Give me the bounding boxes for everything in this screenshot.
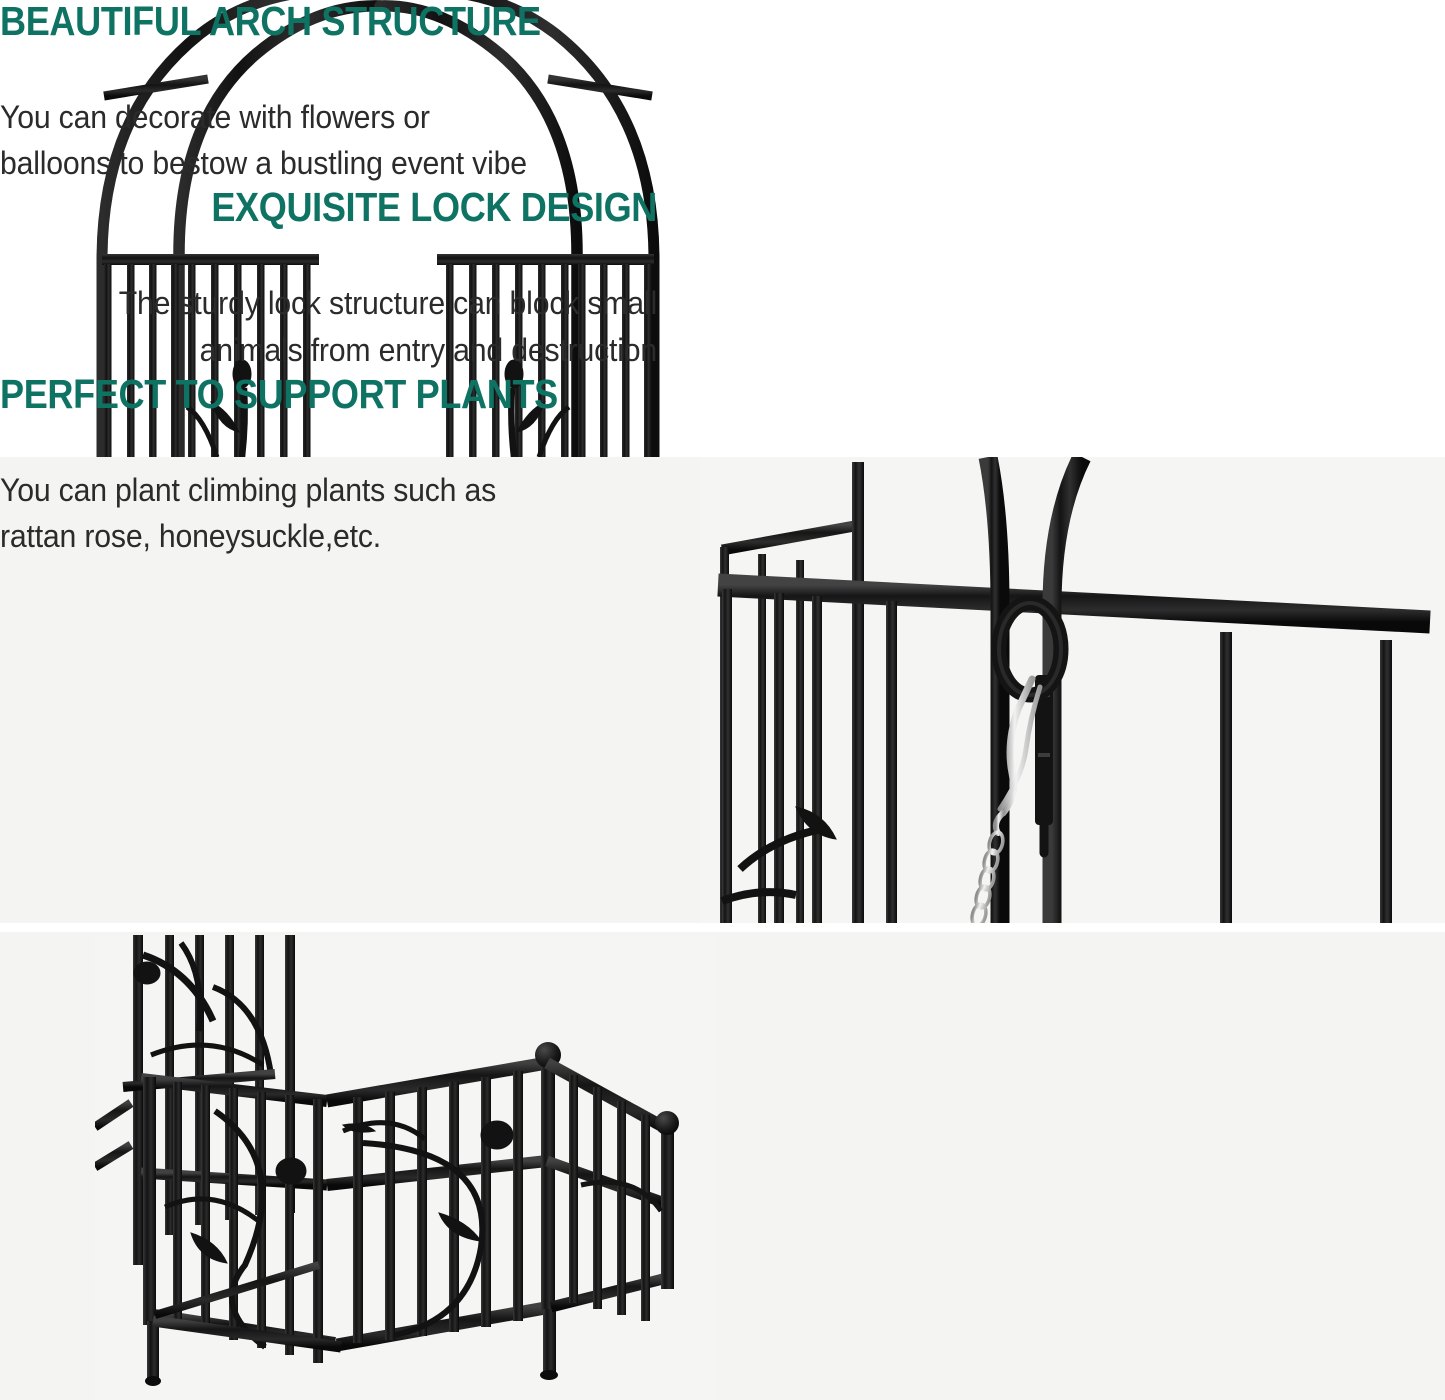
- planter-box-closeup-photo: [95, 935, 715, 1400]
- feature-body-1: You can decorate with flowers or balloon…: [0, 94, 651, 186]
- feature-heading-2: EXQUISITE LOCK DESIGN: [79, 186, 657, 229]
- gate-lock-closeup-photo: [700, 457, 1445, 923]
- feature-text-block-1: BEAUTIFUL ARCH STRUCTURE You can decorat…: [0, 0, 700, 186]
- feature-heading-1: BEAUTIFUL ARCH STRUCTURE: [0, 0, 616, 43]
- feature-heading-3: PERFECT TO SUPPORT PLANTS: [0, 373, 616, 416]
- feature-body-3: You can plant climbing plants such as ra…: [0, 467, 651, 559]
- feature-text-block-3: PERFECT TO SUPPORT PLANTS You can plant …: [0, 373, 700, 559]
- feature-text-block-2: EXQUISITE LOCK DESIGN The sturdy lock st…: [0, 186, 657, 372]
- feature-body-2: The sturdy lock structure can block smal…: [46, 280, 657, 372]
